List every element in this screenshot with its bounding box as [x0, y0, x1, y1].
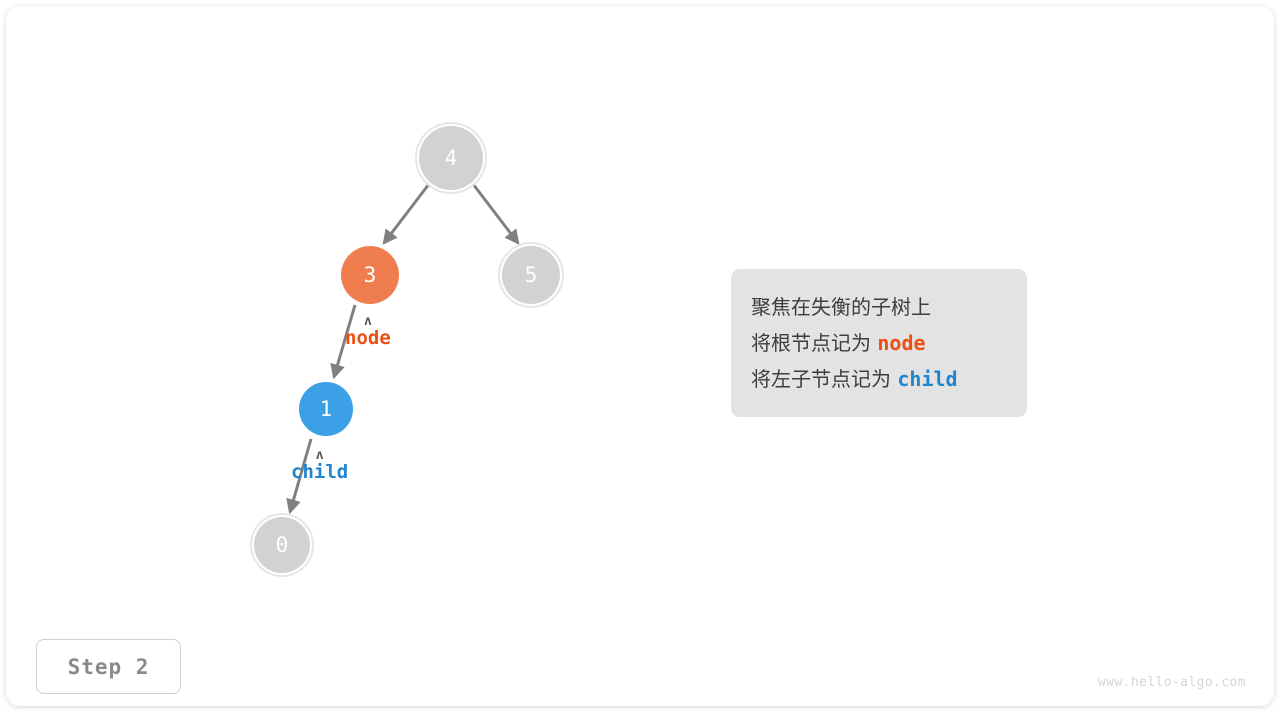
- tree-edges: [0, 0, 1280, 720]
- tree-node-0[interactable]: 0: [254, 517, 310, 573]
- step-badge-label: Step 2: [68, 655, 150, 679]
- node-value: 5: [525, 265, 538, 286]
- caption-line-3: 将左子节点记为 child: [751, 361, 1005, 397]
- watermark: www.hello-algo.com: [1098, 675, 1246, 690]
- caption-text: 将根节点记为: [751, 331, 871, 355]
- pointer-label: child: [291, 463, 348, 482]
- code-token-node: node: [877, 331, 925, 355]
- tree-node-4[interactable]: 4: [419, 126, 483, 190]
- node-value: 4: [445, 148, 458, 169]
- node-value: 3: [364, 265, 377, 286]
- caption-line-1: 聚焦在失衡的子树上: [751, 289, 1005, 325]
- pointer-child: ʌ child: [291, 449, 348, 482]
- caption-text: 聚焦在失衡的子树上: [751, 295, 931, 319]
- edge-4-5: [473, 184, 518, 243]
- pointer-node: ʌ node: [345, 315, 391, 348]
- caption-text: 将左子节点记为: [751, 367, 891, 391]
- edge-4-3: [384, 184, 429, 243]
- tree-node-5[interactable]: 5: [502, 246, 560, 304]
- caption-line-2: 将根节点记为 node: [751, 325, 1005, 361]
- node-value: 0: [276, 535, 289, 556]
- caption-box: 聚焦在失衡的子树上 将根节点记为 node 将左子节点记为 child: [731, 269, 1027, 417]
- pointer-label: node: [345, 329, 391, 348]
- code-token-child: child: [897, 367, 957, 391]
- diagram-canvas: 4 3 5 1 0 ʌ node ʌ child 聚焦在失衡的子树上 将根节点记…: [0, 0, 1280, 720]
- step-badge: Step 2: [36, 639, 181, 694]
- tree-node-3[interactable]: 3: [341, 246, 399, 304]
- tree-node-1[interactable]: 1: [299, 382, 353, 436]
- node-value: 1: [320, 399, 333, 420]
